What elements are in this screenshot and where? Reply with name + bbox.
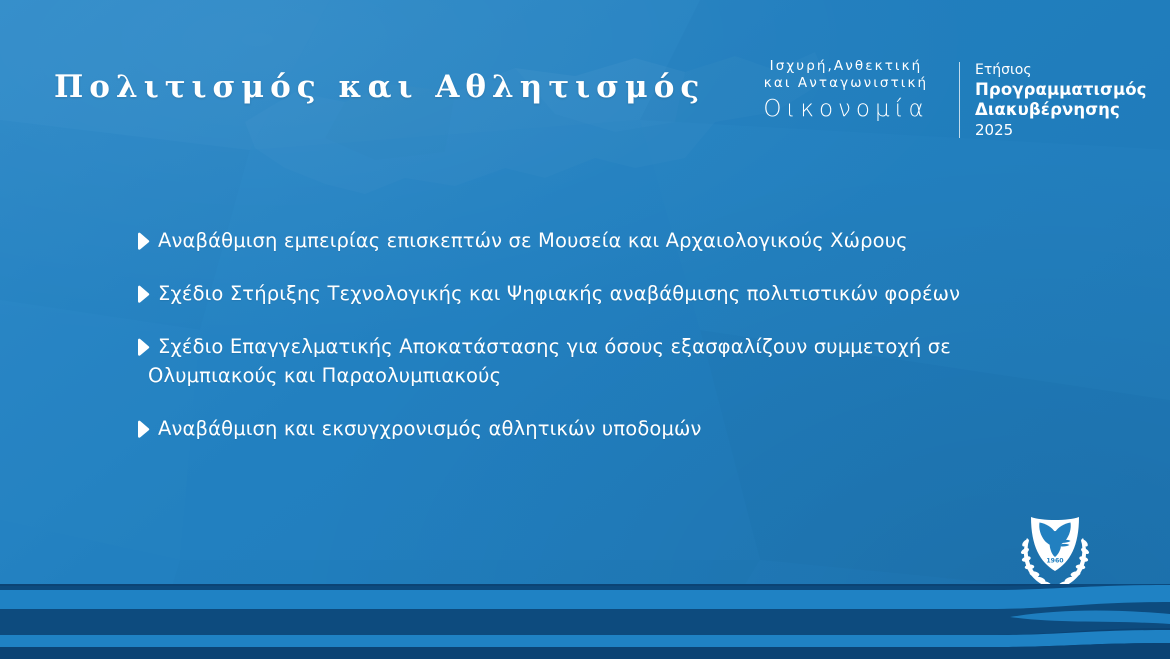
list-item: Σχέδιο Επαγγελματικής Αποκατάστασης για …: [136, 332, 1016, 390]
brand-lockup: Ισχυρή,Ανθεκτική και Ανταγωνιστική Οικον…: [742, 58, 950, 124]
list-item-line-1: Σχέδιο Επαγγελματικής Αποκατάστασης για …: [158, 335, 951, 358]
chevron-right-icon: [136, 333, 154, 361]
list-item-line-1: Αναβάθμιση εμπειρίας επισκεπτών σε Μουσε…: [158, 229, 908, 252]
list-item-text: Σχέδιο Στήριξης Τεχνολογικής και Ψηφιακή…: [158, 279, 960, 308]
list-item: Σχέδιο Στήριξης Τεχνολογικής και Ψηφιακή…: [136, 279, 1016, 308]
list-item-line-1: Σχέδιο Στήριξης Τεχνολογικής και Ψηφιακή…: [158, 282, 960, 305]
annual-line-2: Προγραμματισμός: [975, 80, 1147, 100]
annual-programme-lockup: Ετήσιος Προγραμματισμός Διακυβέρνησης 20…: [975, 60, 1147, 140]
annual-label: Ετήσιος: [975, 60, 1147, 80]
annual-year: 2025: [975, 120, 1147, 140]
bullet-list: Αναβάθμιση εμπειρίας επισκεπτών σε Μουσε…: [136, 226, 1016, 443]
list-item: Αναβάθμιση και εκσυγχρονισμός αθλητικών …: [136, 414, 1016, 443]
brand-line-2: και Ανταγωνιστική: [742, 75, 950, 92]
brand-divider: [959, 62, 960, 138]
list-item-line-1: Αναβάθμιση και εκσυγχρονισμός αθλητικών …: [158, 417, 702, 440]
cyprus-coat-of-arms-emblem: 1960: [1018, 510, 1092, 594]
annual-line-3: Διακυβέρνησης: [975, 100, 1147, 120]
list-item: Αναβάθμιση εμπειρίας επισκεπτών σε Μουσε…: [136, 226, 1016, 255]
list-item-text: Σχέδιο Επαγγελματικής Αποκατάστασης για …: [158, 332, 951, 390]
brand-line-3: Οικονομία: [742, 94, 950, 124]
chevron-right-icon: [136, 227, 154, 255]
brand-line-1: Ισχυρή,Ανθεκτική: [742, 58, 950, 75]
list-item-line-2: Ολυμπιακούς και Παραολυμπιακούς: [148, 361, 951, 390]
list-item-text: Αναβάθμιση και εκσυγχρονισμός αθλητικών …: [158, 414, 702, 443]
chevron-right-icon: [136, 280, 154, 308]
presentation-slide: Πολιτισμός και Αθλητισμός Ισχυρή,Ανθεκτι…: [0, 0, 1170, 659]
list-item-text: Αναβάθμιση εμπειρίας επισκεπτών σε Μουσε…: [158, 226, 908, 255]
chevron-right-icon: [136, 415, 154, 443]
page-title: Πολιτισμός και Αθλητισμός: [54, 72, 705, 103]
wave-decoration: [0, 584, 1170, 659]
emblem-year-inscription: 1960: [1046, 558, 1064, 565]
